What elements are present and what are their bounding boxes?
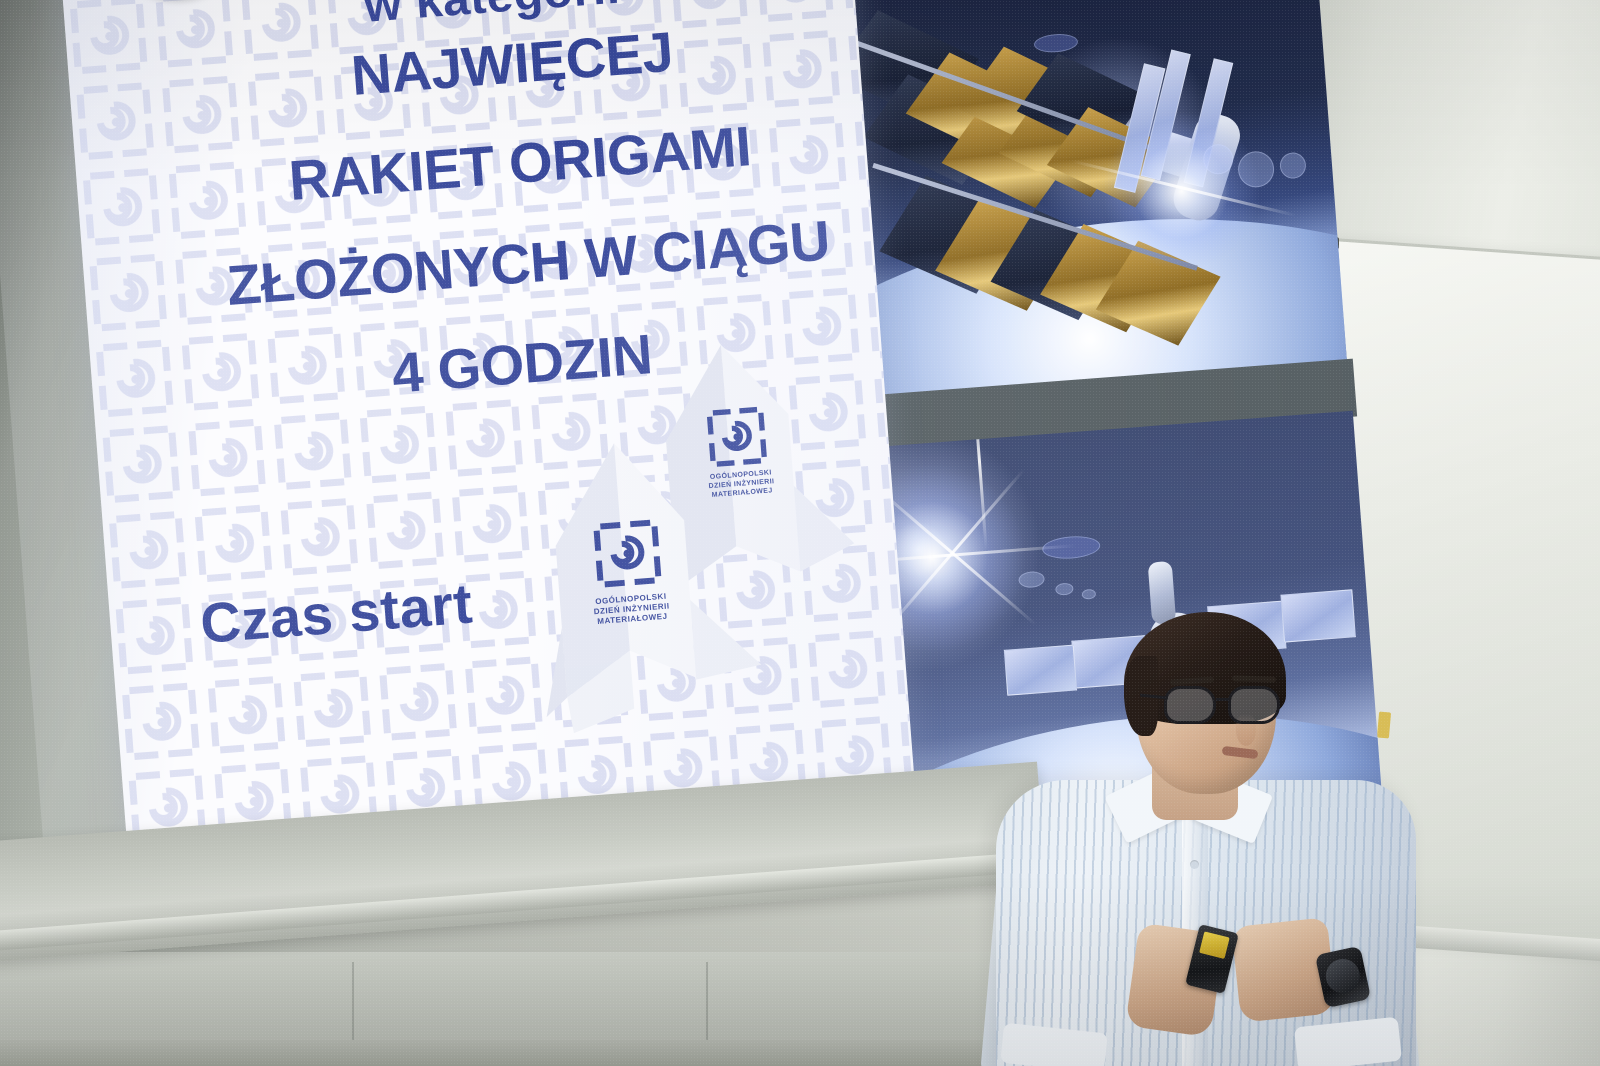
presenter: [986, 598, 1426, 1066]
photo-scene: WWW.BIUROREKORDOW.PL REKORD POLSKI w kat…: [0, 0, 1600, 1066]
image-space-station: [817, 0, 1347, 411]
rocket-shape-icon: [518, 427, 771, 754]
headline-line-2: RAKIET ORIGAMI: [287, 118, 753, 209]
headline-line-1: NAJWIĘCEJ: [349, 24, 675, 104]
clicker-label: [1199, 931, 1230, 959]
slide-footer-text: Czas start: [198, 571, 475, 656]
eyeglasses-icon: [1164, 686, 1290, 726]
origami-rocket-front: OGÓLNOPOLSKI DZIEŃ INŻYNIERII MATERIAŁOW…: [518, 427, 771, 754]
baseboard: [0, 1040, 1060, 1066]
odim-logo-icon: [590, 516, 665, 591]
headline-line-3: ZŁOŻONYCH W CIĄGU: [225, 212, 832, 314]
origami-rockets: OGÓLNOPOLSKI DZIEŃ INŻYNIERII MATERIAŁOW…: [521, 329, 909, 735]
projected-slide: WWW.BIUROREKORDOW.PL REKORD POLSKI w kat…: [56, 0, 920, 907]
record-badge: WWW.BIUROREKORDOW.PL: [96, 0, 257, 4]
